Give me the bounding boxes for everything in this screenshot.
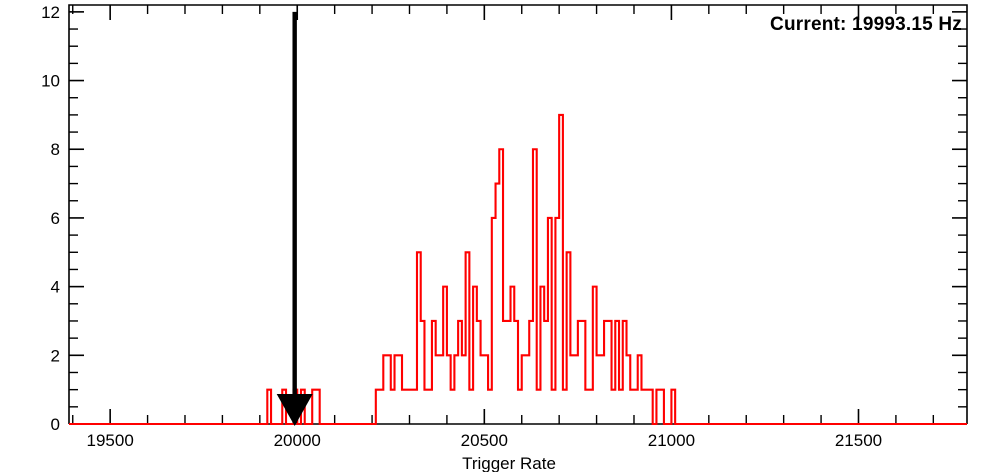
x-axis-title: Trigger Rate bbox=[462, 454, 556, 472]
y-tick-label: 4 bbox=[51, 278, 60, 297]
x-axis-title-text: Trigger Rate bbox=[462, 454, 556, 472]
trigger-rate-histogram: 024681012 1950020000205002100021500 Trig… bbox=[0, 0, 996, 472]
y-tick-label: 12 bbox=[41, 3, 60, 22]
y-tick-label: 8 bbox=[51, 140, 60, 159]
y-tick-label: 0 bbox=[51, 415, 60, 434]
x-tick-label: 20500 bbox=[461, 431, 508, 450]
x-tick-label: 20000 bbox=[274, 431, 321, 450]
current-rate-marker bbox=[277, 12, 313, 426]
y-tick-label: 2 bbox=[51, 346, 60, 365]
x-tick-label: 21000 bbox=[648, 431, 695, 450]
current-rate-readout: Current: 19993.15 Hz bbox=[770, 14, 962, 36]
y-tick-label: 6 bbox=[51, 209, 60, 228]
histogram-series bbox=[69, 115, 967, 424]
x-tick-label: 21500 bbox=[835, 431, 882, 450]
root-canvas: 024681012 1950020000205002100021500 Trig… bbox=[0, 0, 996, 472]
histogram-outline bbox=[69, 115, 967, 424]
x-tick-label: 19500 bbox=[87, 431, 134, 450]
y-tick-label: 10 bbox=[41, 72, 60, 91]
